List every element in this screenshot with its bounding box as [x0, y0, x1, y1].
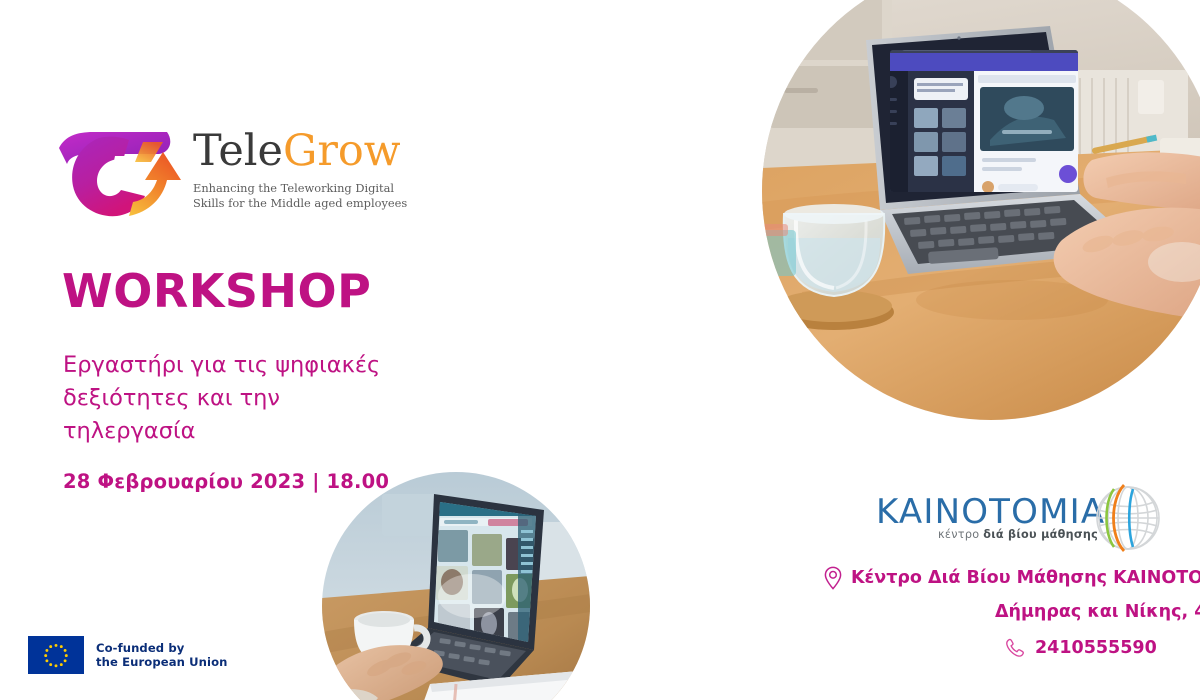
eu-cofunding-badge: Co-funded by the European Union	[28, 636, 228, 674]
telegrow-word-secondary: Grow	[283, 126, 401, 176]
kainotomia-tagline-light: κέντρο	[938, 528, 983, 541]
kainotomia-tagline-bold: διά βίου μάθησης	[983, 528, 1098, 541]
workshop-date-time: 28 Φεβρουαρίου 2023 | 18.00	[63, 470, 389, 493]
page-title: WORKSHOP	[62, 265, 371, 317]
kainotomia-tagline: κέντρο διά βίου μάθησης	[938, 528, 1098, 541]
telegrow-wordmark: TeleGrow Enhancing the Teleworking Digit…	[193, 126, 423, 211]
photo-bottom-center-artwork	[322, 472, 590, 700]
photo-laptop-desk-water-glass	[762, 0, 1200, 420]
photo-hands-typing-notebook	[322, 472, 590, 700]
contact-phone-label: 2410555590	[1035, 638, 1157, 658]
telegrow-logo: TeleGrow Enhancing the Teleworking Digit…	[55, 126, 415, 222]
contact-venue-label: Κέντρο Διά Βίου Μάθησης KAINOTOMIA	[851, 568, 1200, 588]
photo-top-right-artwork	[762, 0, 1200, 420]
telegrow-tagline: Enhancing the Teleworking Digital Skills…	[193, 181, 423, 211]
kainotomia-logo: KAINOTOMIA κέντρο διά βίου μάθησης	[876, 480, 1176, 555]
eu-flag-icon	[28, 636, 84, 674]
telegrow-tg-monogram-icon	[55, 128, 185, 220]
eu-cofunding-caption: Co-funded by the European Union	[96, 641, 228, 670]
globe-wireframe-icon	[1088, 480, 1168, 556]
contact-venue: Κέντρο Διά Βίου Μάθησης KAINOTOMIA	[824, 566, 1200, 590]
flyer-canvas: TeleGrow Enhancing the Teleworking Digit…	[0, 0, 1200, 700]
contact-phone: 2410555590	[1004, 637, 1157, 659]
contact-address-label: Δήμηρας και Νίκης, 4	[995, 602, 1200, 622]
phone-handset-icon	[1004, 637, 1026, 659]
workshop-subtitle: Εργαστήρι για τις ψηφιακές δεξιότητες κα…	[63, 349, 393, 448]
contact-address: Δήμηρας και Νίκης, 4	[995, 602, 1200, 622]
map-pin-icon	[824, 566, 842, 590]
telegrow-word-primary: Tele	[193, 126, 283, 176]
kainotomia-wordmark: KAINOTOMIA	[876, 492, 1105, 532]
